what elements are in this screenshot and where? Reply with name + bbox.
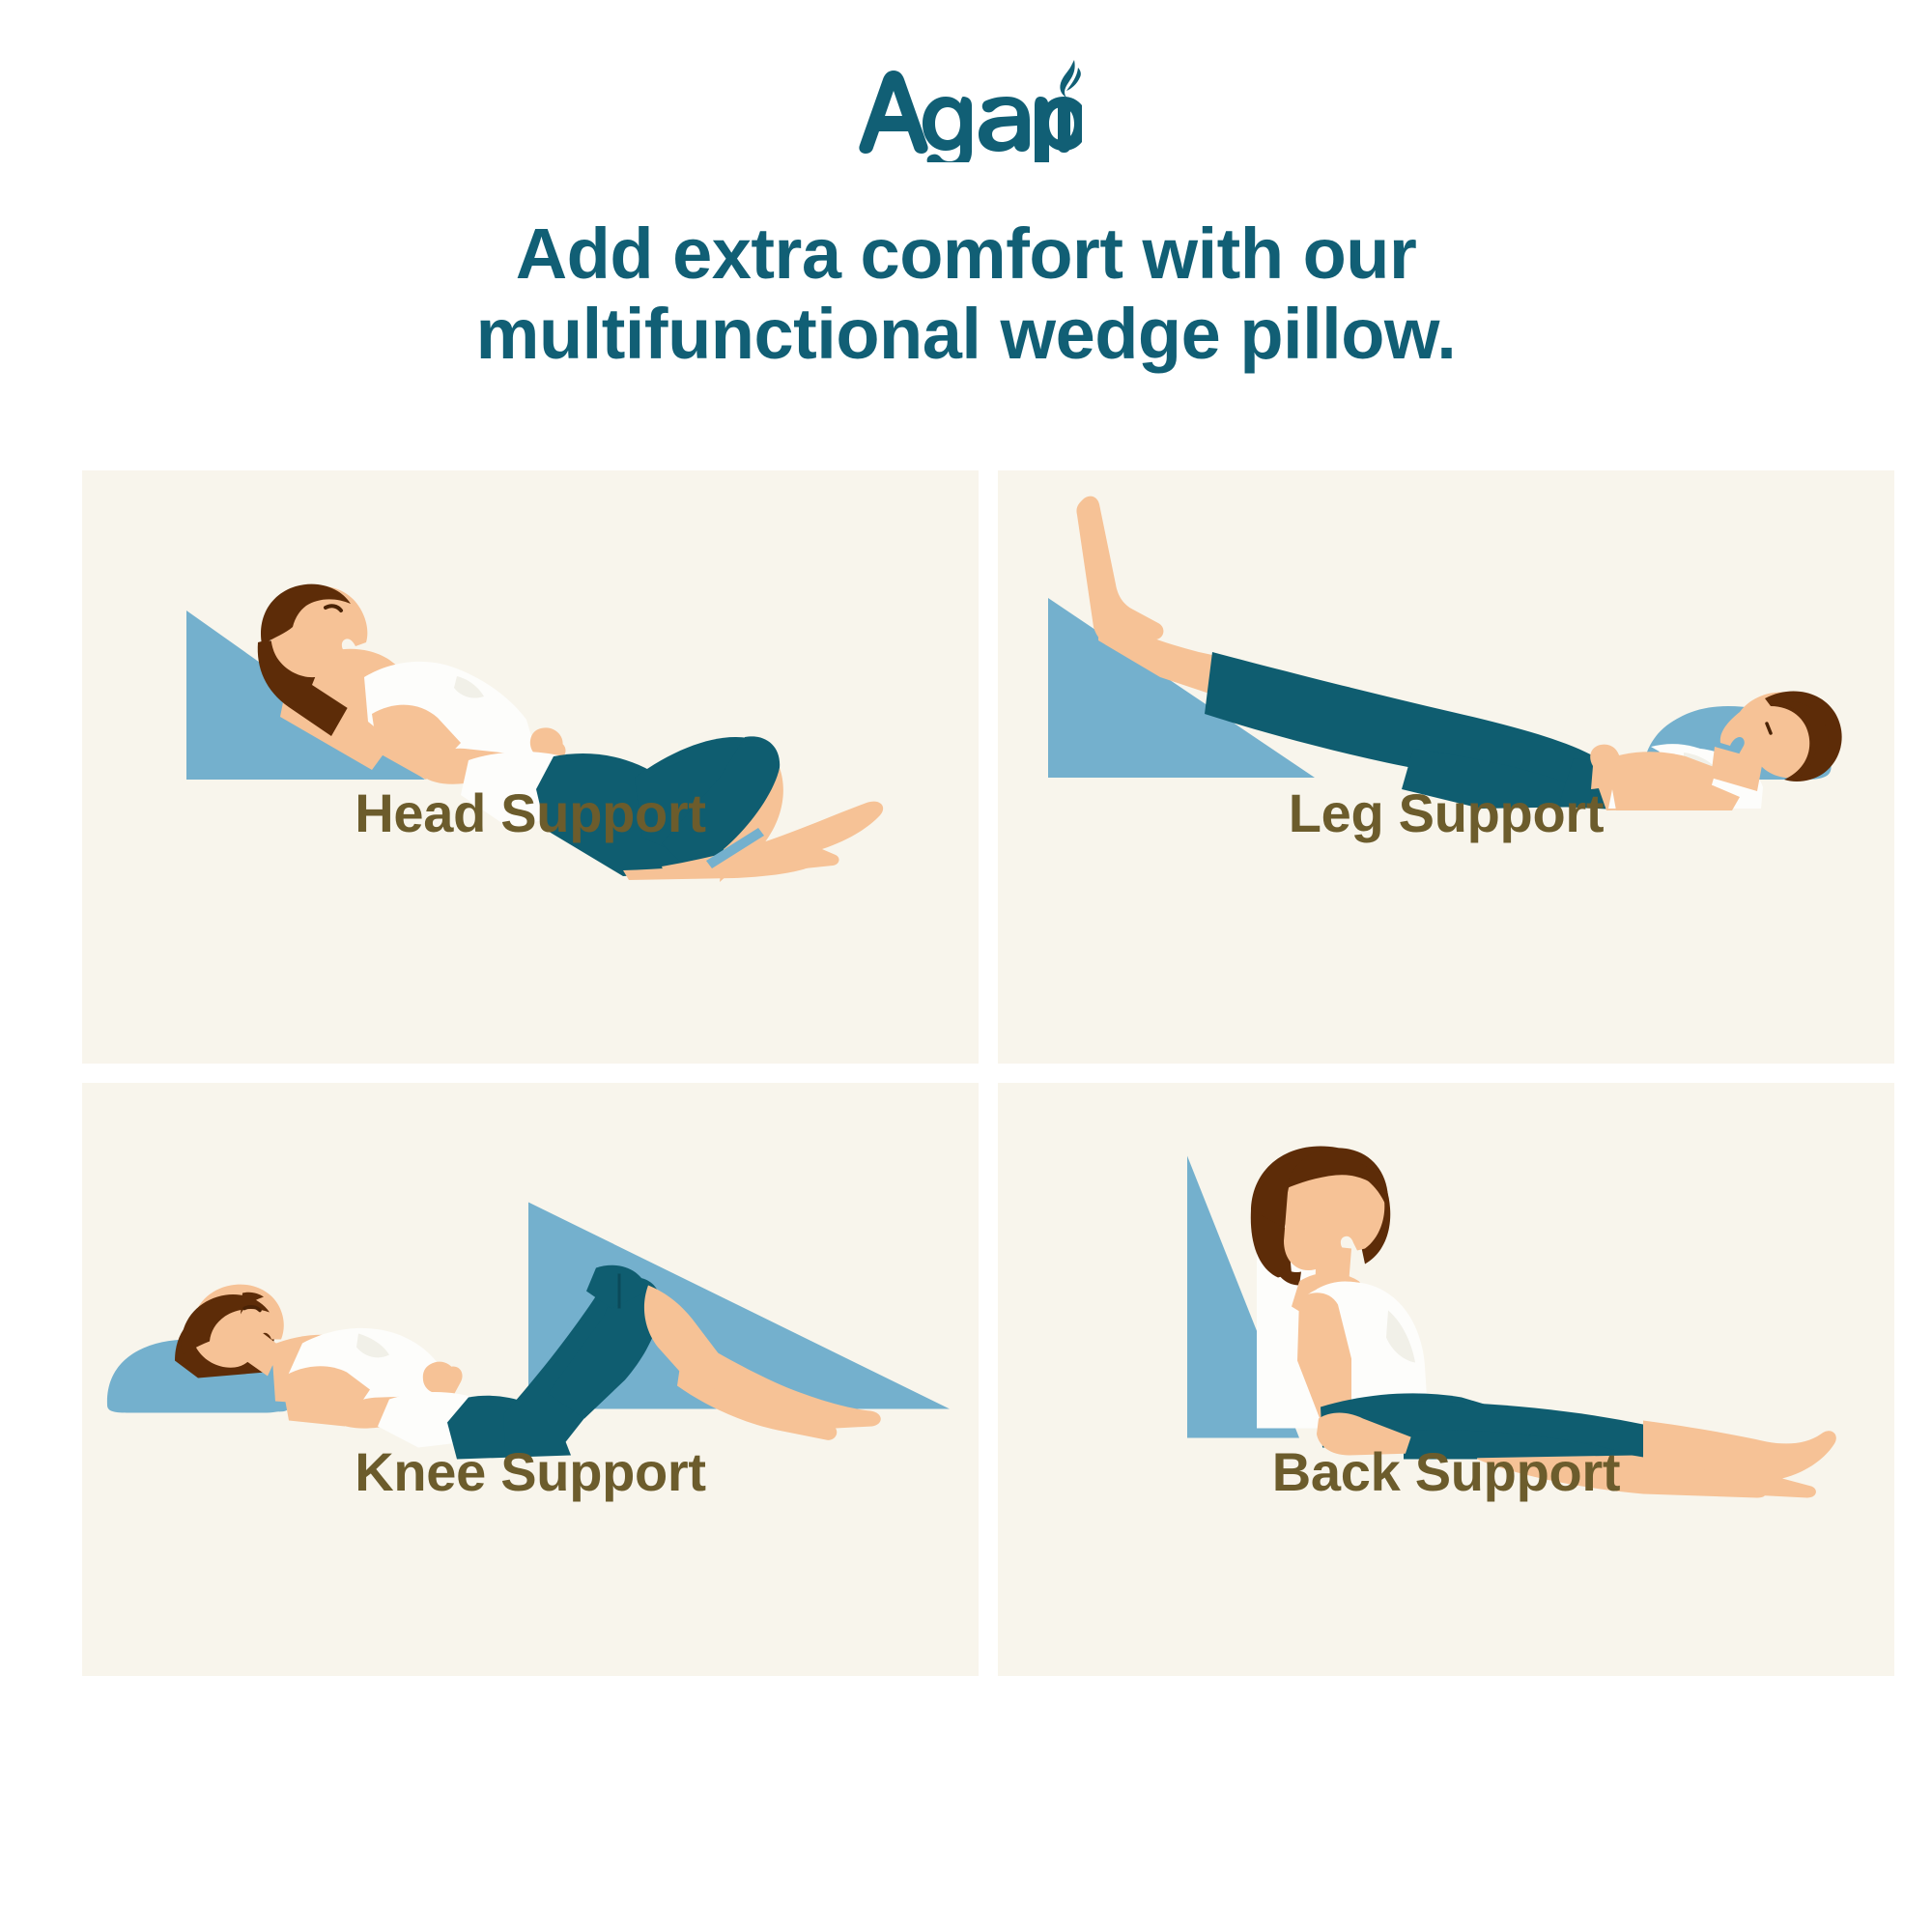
brand-logo bbox=[0, 56, 1932, 162]
flame-leaf-icon bbox=[1060, 60, 1074, 98]
card-leg-support[interactable]: Leg Support bbox=[998, 470, 1894, 1064]
page-title: Add extra comfort with our multifunction… bbox=[0, 214, 1932, 375]
card-back-support[interactable]: Back Support bbox=[998, 1083, 1894, 1676]
page-title-line1: Add extra comfort with our bbox=[0, 214, 1932, 295]
hand bbox=[423, 1362, 456, 1394]
card-knee-support[interactable]: Knee Support bbox=[82, 1083, 979, 1676]
page-title-line2: multifunctional wedge pillow. bbox=[0, 295, 1932, 375]
raised-foot bbox=[1076, 497, 1163, 647]
card-label-head-support: Head Support bbox=[82, 781, 979, 844]
infographic-page: Add extra comfort with our multifunction… bbox=[0, 0, 1932, 1932]
support-card-grid: Head Support bbox=[82, 470, 1850, 1676]
card-label-knee-support: Knee Support bbox=[82, 1440, 979, 1503]
agapi-logo-svg bbox=[850, 56, 1082, 162]
card-label-leg-support: Leg Support bbox=[998, 781, 1894, 844]
card-head-support[interactable]: Head Support bbox=[82, 470, 979, 1064]
card-label-back-support: Back Support bbox=[998, 1440, 1894, 1503]
